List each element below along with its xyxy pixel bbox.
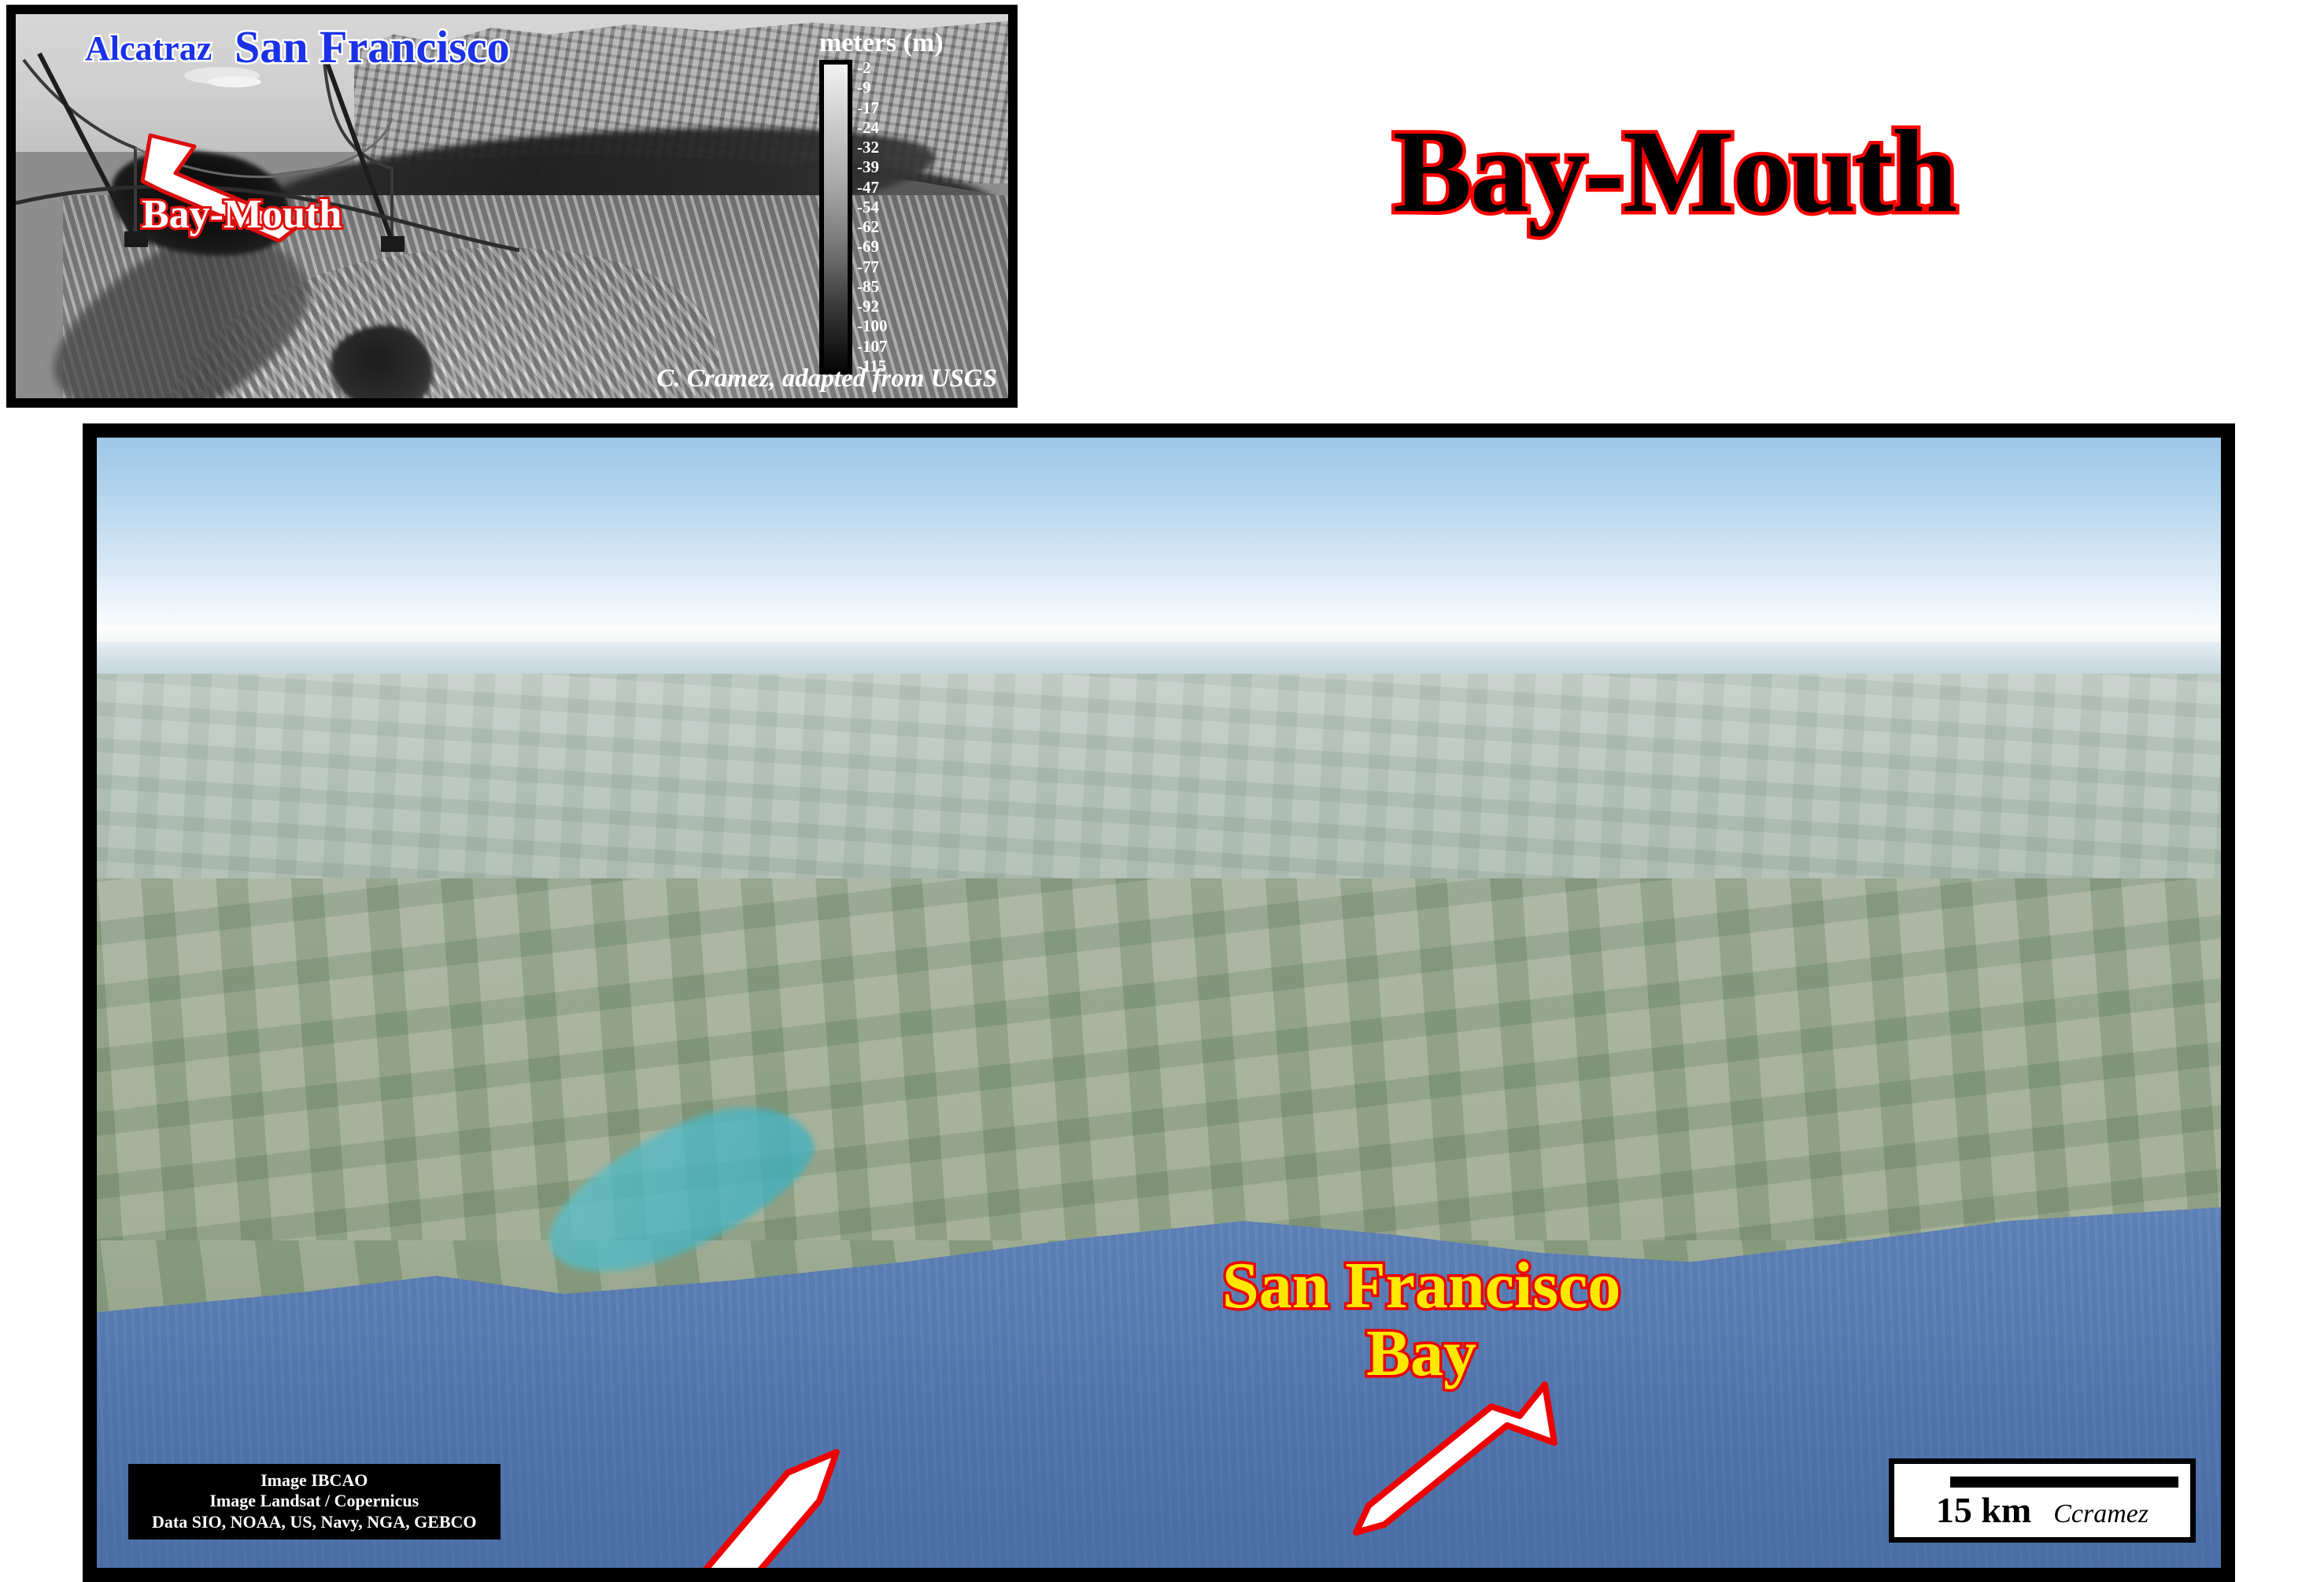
poster-canvas: Bay-Mouth San Francisco Bay Bay-Mouth [0,0,2324,1582]
colorbar-title: meters (m) [819,28,961,58]
colorbar-tick-4: -32 [857,139,888,156]
colorbar-tick-9: -69 [857,238,888,255]
colorbar-tick-6: -47 [857,179,888,196]
inset-bathymetry-panel: Alcatraz San Francisco Bay-Mouth meters … [6,5,1018,408]
colorbar-tick-5: -39 [857,159,888,176]
colorbar-tick-3: -24 [857,120,888,136]
label-san-francisco-bay: San Francisco Bay [1222,1252,1620,1387]
colorbar-tick-11: -85 [857,279,888,295]
label-bay-mouth-inset: Bay-Mouth [142,191,342,238]
arrow-to-san-francisco-bay [1309,1370,1561,1551]
label-alcatraz: Alcatraz [85,28,212,68]
scale-author: Ccramez [2053,1499,2148,1529]
main-satellite-photo: San Francisco Bay Bay-Mouth Image IBCAO … [97,438,2221,1568]
scale-bar-line [1950,1477,2178,1488]
inset-credit: C. Cramez, adapted from USGS [656,364,997,394]
colorbar-tick-8: -62 [857,219,888,235]
image-credits: Image IBCAO Image Landsat / Copernicus D… [128,1464,501,1539]
depth-colorbar: meters (m) -2-9-17-24-32-39-47-54-62-69-… [819,28,961,375]
colorbar-tick-7: -54 [857,199,888,216]
scale-bar: 15 km Ccramez [1889,1458,2196,1543]
page-title: Bay-Mouth [1393,110,1956,235]
scale-distance: 15 km [1936,1489,2031,1531]
colorbar-tick-0: -2 [857,60,888,76]
colorbar-tick-2: -17 [857,100,888,116]
colorbar-tick-12: -92 [857,298,888,315]
colorbar-tick-14: -107 [857,338,888,355]
main-satellite-panel: San Francisco Bay Bay-Mouth Image IBCAO … [83,423,2235,1582]
label-san-francisco: San Francisco [235,20,510,73]
colorbar-gradient [819,60,852,375]
colorbar-tick-labels: -2-9-17-24-32-39-47-54-62-69-77-85-92-10… [857,60,888,375]
colorbar-tick-10: -77 [857,259,888,275]
inset-bathymetry-image: Alcatraz San Francisco Bay-Mouth meters … [16,14,1008,398]
sky-gradient [97,438,2221,642]
colorbar-tick-1: -9 [857,79,888,96]
arrow-to-bay-mouth [585,1441,868,1568]
colorbar-tick-13: -100 [857,318,888,335]
